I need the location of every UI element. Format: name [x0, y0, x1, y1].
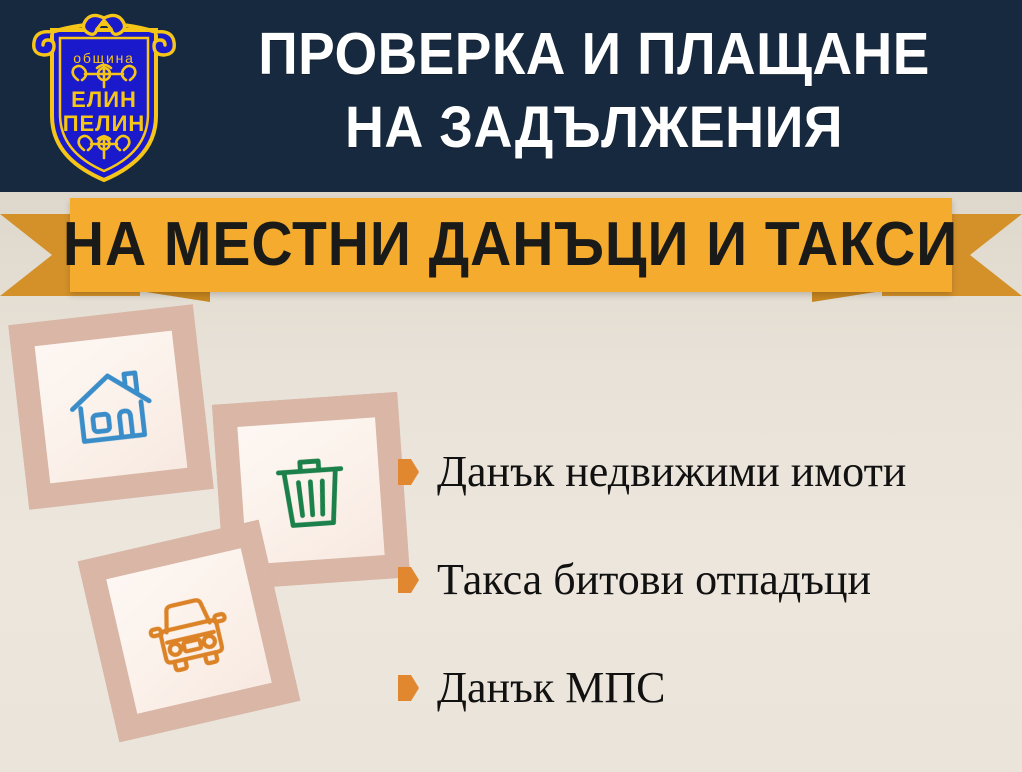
- page-title-line-2: НА ЗАДЪЛЖЕНИЯ: [209, 91, 979, 164]
- list-item[interactable]: Данък МПС: [398, 634, 1008, 742]
- municipality-logo: община ЕЛИН ПЕЛИН: [28, 8, 180, 186]
- page-title-line-1: ПРОВЕРКА И ПЛАЩАНЕ: [209, 18, 979, 91]
- poster-root: ПРОВЕРКА И ПЛАЩАНЕ НА ЗАДЪЛЖЕНИЯ община: [0, 0, 1022, 772]
- arrow-bullet-icon: [398, 567, 419, 593]
- car-front-icon: [134, 576, 244, 686]
- arrow-bullet-icon: [398, 459, 419, 485]
- list-item[interactable]: Такса битови отпадъци: [398, 526, 1008, 634]
- logo-name-line-1: ЕЛИН: [71, 87, 137, 112]
- list-item-label: Данък недвижими имоти: [437, 447, 906, 497]
- list-item-label: Данък МПС: [437, 663, 665, 713]
- trash-bin-icon: [262, 442, 360, 540]
- house-icon: [60, 356, 162, 458]
- page-title: ПРОВЕРКА И ПЛАЩАНЕ НА ЗАДЪЛЖЕНИЯ: [209, 18, 979, 164]
- ribbon-subtitle: НА МЕСТНИ ДАНЪЦИ И ТАКСИ: [63, 214, 958, 276]
- stamp-card-property: [8, 304, 214, 510]
- logo-obshtina-text: община: [73, 50, 134, 66]
- logo-name-line-2: ПЕЛИН: [63, 111, 146, 136]
- arrow-bullet-icon: [398, 675, 419, 701]
- tax-type-list: Данък недвижими имоти Такса битови отпад…: [398, 418, 1008, 742]
- ribbon-main-panel: НА МЕСТНИ ДАНЪЦИ И ТАКСИ: [70, 198, 952, 292]
- list-item[interactable]: Данък недвижими имоти: [398, 418, 1008, 526]
- ribbon-banner: НА МЕСТНИ ДАНЪЦИ И ТАКСИ: [0, 196, 1022, 306]
- list-item-label: Такса битови отпадъци: [437, 555, 871, 605]
- stamp-card-face: [35, 331, 188, 484]
